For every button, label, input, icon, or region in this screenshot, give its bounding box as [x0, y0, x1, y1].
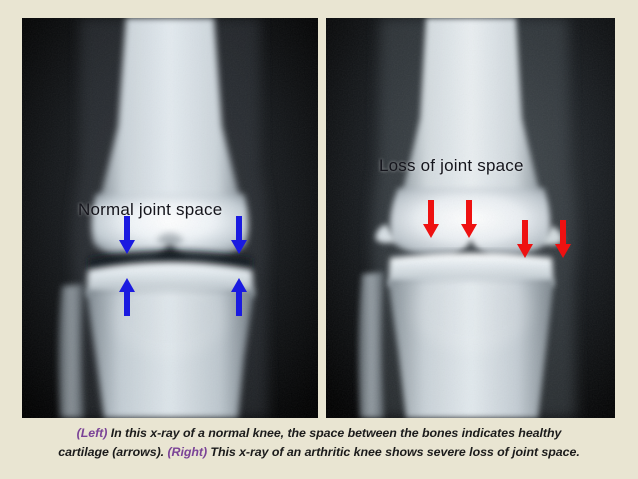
blue-arrow-up-right: [230, 276, 248, 316]
slide-canvas: Normal joint space: [0, 0, 638, 479]
caption-right-tag: (Right): [167, 445, 207, 459]
caption-line-1-text: In this x-ray of a normal knee, the spac…: [107, 426, 561, 440]
normal-knee-xray-panel: Normal joint space: [22, 18, 318, 418]
caption-left-tag: (Left): [77, 426, 108, 440]
caption-line-1: (Left) In this x-ray of a normal knee, t…: [0, 424, 638, 443]
blue-arrow-down-right: [230, 216, 248, 256]
arthritic-knee-xray-panel: Loss of joint space: [326, 18, 615, 418]
red-arrow-4: [554, 220, 572, 260]
caption-line-2-pre: cartilage (arrows).: [58, 445, 167, 459]
caption-line-2: cartilage (arrows). (Right) This x-ray o…: [0, 443, 638, 462]
blue-arrow-up-left: [118, 276, 136, 316]
red-arrow-1: [422, 200, 440, 240]
loss-of-joint-space-label: Loss of joint space: [379, 156, 524, 176]
red-arrow-2: [460, 200, 478, 240]
caption-line-2-text: This x-ray of an arthritic knee shows se…: [207, 445, 580, 459]
figure-caption: (Left) In this x-ray of a normal knee, t…: [0, 424, 638, 462]
blue-arrow-down-left: [118, 216, 136, 256]
normal-joint-space-label: Normal joint space: [78, 200, 222, 220]
red-arrow-3: [516, 220, 534, 260]
